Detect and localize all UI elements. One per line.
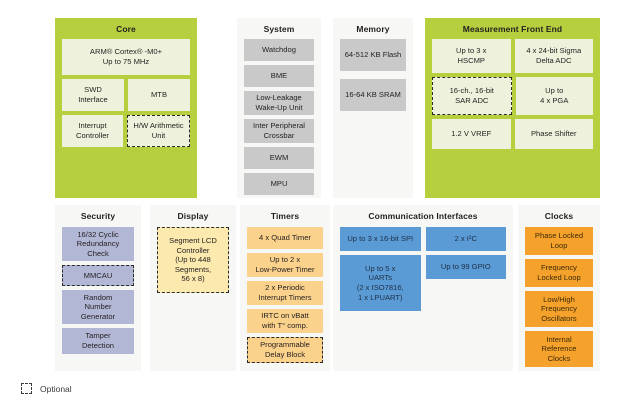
block-irc-line2: Reference <box>541 344 576 354</box>
block-lcd-line4: Segments, <box>175 265 211 275</box>
panel-clocks: Clocks Phase Locked Loop Frequency Locke… <box>518 205 600 371</box>
block-pga: Up to 4 x PGA <box>516 77 594 115</box>
block-internal-reference-clocks: Internal Reference Clocks <box>525 331 593 367</box>
block-sigma-delta-adc: 4 x 24-bit Sigma Delta ADC <box>515 39 594 73</box>
panel-security-title: Security <box>55 205 141 226</box>
block-irtc-line2: with T° comp. <box>262 321 308 331</box>
block-sram: 16-64 KB SRAM <box>340 79 406 111</box>
block-lcd-line1: Segment LCD <box>169 236 217 246</box>
block-irc-line3: Clocks <box>548 354 571 364</box>
block-fll-line1: Frequency <box>541 263 577 273</box>
block-tamper-line2: Detection <box>82 341 114 351</box>
block-gpio: Up to 99 GPIO <box>426 255 507 279</box>
block-vref-label: 1.2 V VREF <box>451 129 491 139</box>
block-sram-label: 16-64 KB SRAM <box>345 90 401 100</box>
block-hw-arithmetic-unit: H/W Arithmetic Unit <box>127 115 190 147</box>
panel-security: Security 16/32 Cyclic Redundancy Check M… <box>55 205 141 371</box>
block-uart-line3: (2 x ISO7816, <box>357 283 404 293</box>
communication-column-left: Up to 3 x 16-bit SPI Up to 5 x UARTs (2 … <box>340 227 421 315</box>
block-osc-line2: Frequency <box>541 304 577 314</box>
legend-optional-label: Optional <box>40 384 72 394</box>
block-irtc-line1: IRTC on vBatt <box>261 311 309 321</box>
block-mmcau: MMCAU <box>62 265 134 286</box>
block-osc-line3: Oscillators <box>541 314 576 324</box>
block-pll-line2: Loop <box>551 241 568 251</box>
block-hwau-line2: Unit <box>152 131 166 141</box>
block-mpu: MPU <box>244 173 314 195</box>
mfe-row-3: 1.2 V VREF Phase Shifter <box>432 119 593 153</box>
block-swd-line2: Interface <box>78 95 108 105</box>
block-random-number-generator: Random Number Generator <box>62 290 134 324</box>
block-hscmp-line2: HSCMP <box>458 56 485 66</box>
block-irtc: IRTC on vBatt with T° comp. <box>247 309 323 333</box>
block-llwu-line1: Low-Leakage <box>256 93 302 103</box>
panel-clocks-title: Clocks <box>518 205 600 226</box>
block-crc-line2: Redundancy <box>77 239 120 249</box>
block-uart-line1: Up to 5 x <box>365 264 395 274</box>
block-cyclic-redundancy-check: 16/32 Cyclic Redundancy Check <box>62 227 134 261</box>
panel-communication-title: Communication Interfaces <box>333 205 513 226</box>
block-swd-line1: SWD <box>84 85 102 95</box>
block-tamper-line1: Tamper <box>85 331 110 341</box>
block-rng-line1: Random <box>84 293 113 303</box>
block-tamper-detection: Tamper Detection <box>62 328 134 354</box>
block-flash: 64-512 KB Flash <box>340 39 406 71</box>
block-pit-line1: 2 x Periodic <box>265 283 305 293</box>
block-uarts: Up to 5 x UARTs (2 x ISO7816, 1 x LPUART… <box>340 255 421 311</box>
block-ewm-label: EWM <box>270 153 289 163</box>
block-crc-line3: Check <box>87 249 109 259</box>
block-gpio-label: Up to 99 GPIO <box>441 262 491 272</box>
block-mtb: MTB <box>128 79 190 111</box>
block-rng-line2: Number <box>84 302 111 312</box>
block-sar-adc: 16-ch., 16-bit SAR ADC <box>432 77 512 115</box>
block-phase-locked-loop: Phase Locked Loop <box>525 227 593 255</box>
block-pdb-line2: Delay Block <box>265 350 305 360</box>
panel-system: System Watchdog BME Low-Leakage Wake-Up … <box>237 18 321 198</box>
panel-display-title: Display <box>150 205 236 226</box>
block-arm-cortex-line1: ARM® Cortex® -M0+ <box>90 47 162 57</box>
legend-optional: Optional <box>21 383 72 394</box>
mfe-row-1: Up to 3 x HSCMP 4 x 24-bit Sigma Delta A… <box>432 39 593 77</box>
block-spi-label: Up to 3 x 16-bit SPI <box>347 234 413 244</box>
block-frequency-locked-loop: Frequency Locked Loop <box>525 259 593 287</box>
block-sar-line2: SAR ADC <box>455 96 488 106</box>
block-pit-line2: Interrupt Timers <box>258 293 311 303</box>
panel-measurement-front-end: Measurement Front End Up to 3 x HSCMP 4 … <box>425 18 600 198</box>
panel-display: Display Segment LCD Controller (Up to 44… <box>150 205 236 371</box>
block-crc-line1: 16/32 Cyclic <box>77 230 118 240</box>
block-lptmr-line2: Low-Power Timer <box>255 265 314 275</box>
panel-memory: Memory 64-512 KB Flash 16-64 KB SRAM <box>333 18 413 198</box>
block-diagram-canvas: Core ARM® Cortex® -M0+ Up to 75 MHz SWD … <box>0 0 623 409</box>
block-quad-timer: 4 x Quad Timer <box>247 227 323 249</box>
block-watchdog: Watchdog <box>244 39 314 61</box>
block-interrupt-line1: Interrupt <box>78 121 106 131</box>
block-i2c: 2 x I²C <box>426 227 507 251</box>
panel-core: Core ARM® Cortex® -M0+ Up to 75 MHz SWD … <box>55 18 197 198</box>
block-frequency-oscillators: Low/High Frequency Oscillators <box>525 291 593 327</box>
block-quad-timer-label: 4 x Quad Timer <box>259 233 311 243</box>
block-llwu-line2: Wake-Up Unit <box>256 103 303 113</box>
block-mpu-label: MPU <box>271 179 288 189</box>
block-sar-line1: 16-ch., 16-bit <box>450 86 494 96</box>
block-swd-interface: SWD Interface <box>62 79 124 111</box>
panel-core-title: Core <box>55 18 197 39</box>
panel-measurement-title: Measurement Front End <box>425 18 600 39</box>
block-hscmp: Up to 3 x HSCMP <box>432 39 511 73</box>
communication-column-right: 2 x I²C Up to 99 GPIO <box>426 227 507 315</box>
block-phase-shifter: Phase Shifter <box>515 119 594 149</box>
block-mmcau-label: MMCAU <box>84 271 113 281</box>
panel-communication-interfaces: Communication Interfaces Up to 3 x 16-bi… <box>333 205 513 371</box>
block-arm-cortex-line2: Up to 75 MHz <box>103 57 149 67</box>
block-mtb-label: MTB <box>151 90 167 100</box>
block-sigma-line2: Delta ADC <box>536 56 571 66</box>
mfe-row-2: 16-ch., 16-bit SAR ADC Up to 4 x PGA <box>432 77 593 119</box>
block-irc-line1: Internal <box>546 335 571 345</box>
block-lcd-line2: Controller <box>177 246 210 256</box>
block-flash-label: 64-512 KB Flash <box>345 50 402 60</box>
block-pll-line1: Phase Locked <box>535 231 583 241</box>
block-crossbar-line2: Crossbar <box>264 131 295 141</box>
block-uart-line4: 1 x LPUART) <box>358 293 403 303</box>
block-crossbar-line1: Inter Peripheral <box>253 121 305 131</box>
core-row-swd-mtb: SWD Interface MTB <box>62 79 190 115</box>
communication-columns: Up to 3 x 16-bit SPI Up to 5 x UARTs (2 … <box>340 227 506 315</box>
panel-system-title: System <box>237 18 321 39</box>
block-lcd-line3: (Up to 448 <box>175 255 210 265</box>
block-osc-line1: Low/High <box>543 295 575 305</box>
block-ewm: EWM <box>244 147 314 169</box>
panel-timers-title: Timers <box>240 205 330 226</box>
block-lptmr-line1: Up to 2 x <box>270 255 300 265</box>
panel-timers: Timers 4 x Quad Timer Up to 2 x Low-Powe… <box>240 205 330 371</box>
block-lcd-line5: 56 x 8) <box>181 274 204 284</box>
panel-memory-title: Memory <box>333 18 413 39</box>
block-arm-cortex-m0plus: ARM® Cortex® -M0+ Up to 75 MHz <box>62 39 190 75</box>
block-bme-label: BME <box>271 71 287 81</box>
block-interrupt-line2: Controller <box>76 131 109 141</box>
block-pga-line2: 4 x PGA <box>540 96 568 106</box>
block-vref: 1.2 V VREF <box>432 119 511 149</box>
block-phase-shifter-label: Phase Shifter <box>531 129 577 139</box>
block-programmable-delay-block: Programmable Delay Block <box>247 337 323 363</box>
block-uart-line2: UARTs <box>369 273 393 283</box>
block-segment-lcd-controller: Segment LCD Controller (Up to 448 Segmen… <box>157 227 229 293</box>
block-rng-line3: Generator <box>81 312 115 322</box>
block-watchdog-label: Watchdog <box>262 45 296 55</box>
block-low-power-timer: Up to 2 x Low-Power Timer <box>247 253 323 277</box>
block-low-leakage-wake-up-unit: Low-Leakage Wake-Up Unit <box>244 91 314 115</box>
block-sigma-line1: 4 x 24-bit Sigma <box>526 46 581 56</box>
block-hwau-line1: H/W Arithmetic <box>133 121 183 131</box>
block-fll-line2: Locked Loop <box>537 273 581 283</box>
block-periodic-interrupt-timers: 2 x Periodic Interrupt Timers <box>247 281 323 305</box>
block-inter-peripheral-crossbar: Inter Peripheral Crossbar <box>244 119 314 143</box>
block-hscmp-line1: Up to 3 x <box>456 46 486 56</box>
block-i2c-label: 2 x I²C <box>455 234 477 244</box>
block-pdb-line1: Programmable <box>260 340 310 350</box>
block-interrupt-controller: Interrupt Controller <box>62 115 123 147</box>
block-spi: Up to 3 x 16-bit SPI <box>340 227 421 251</box>
block-bme: BME <box>244 65 314 87</box>
core-row-interrupt-hwau: Interrupt Controller H/W Arithmetic Unit <box>62 115 190 151</box>
dashed-box-icon <box>21 383 32 394</box>
block-pga-line1: Up to <box>545 86 563 96</box>
